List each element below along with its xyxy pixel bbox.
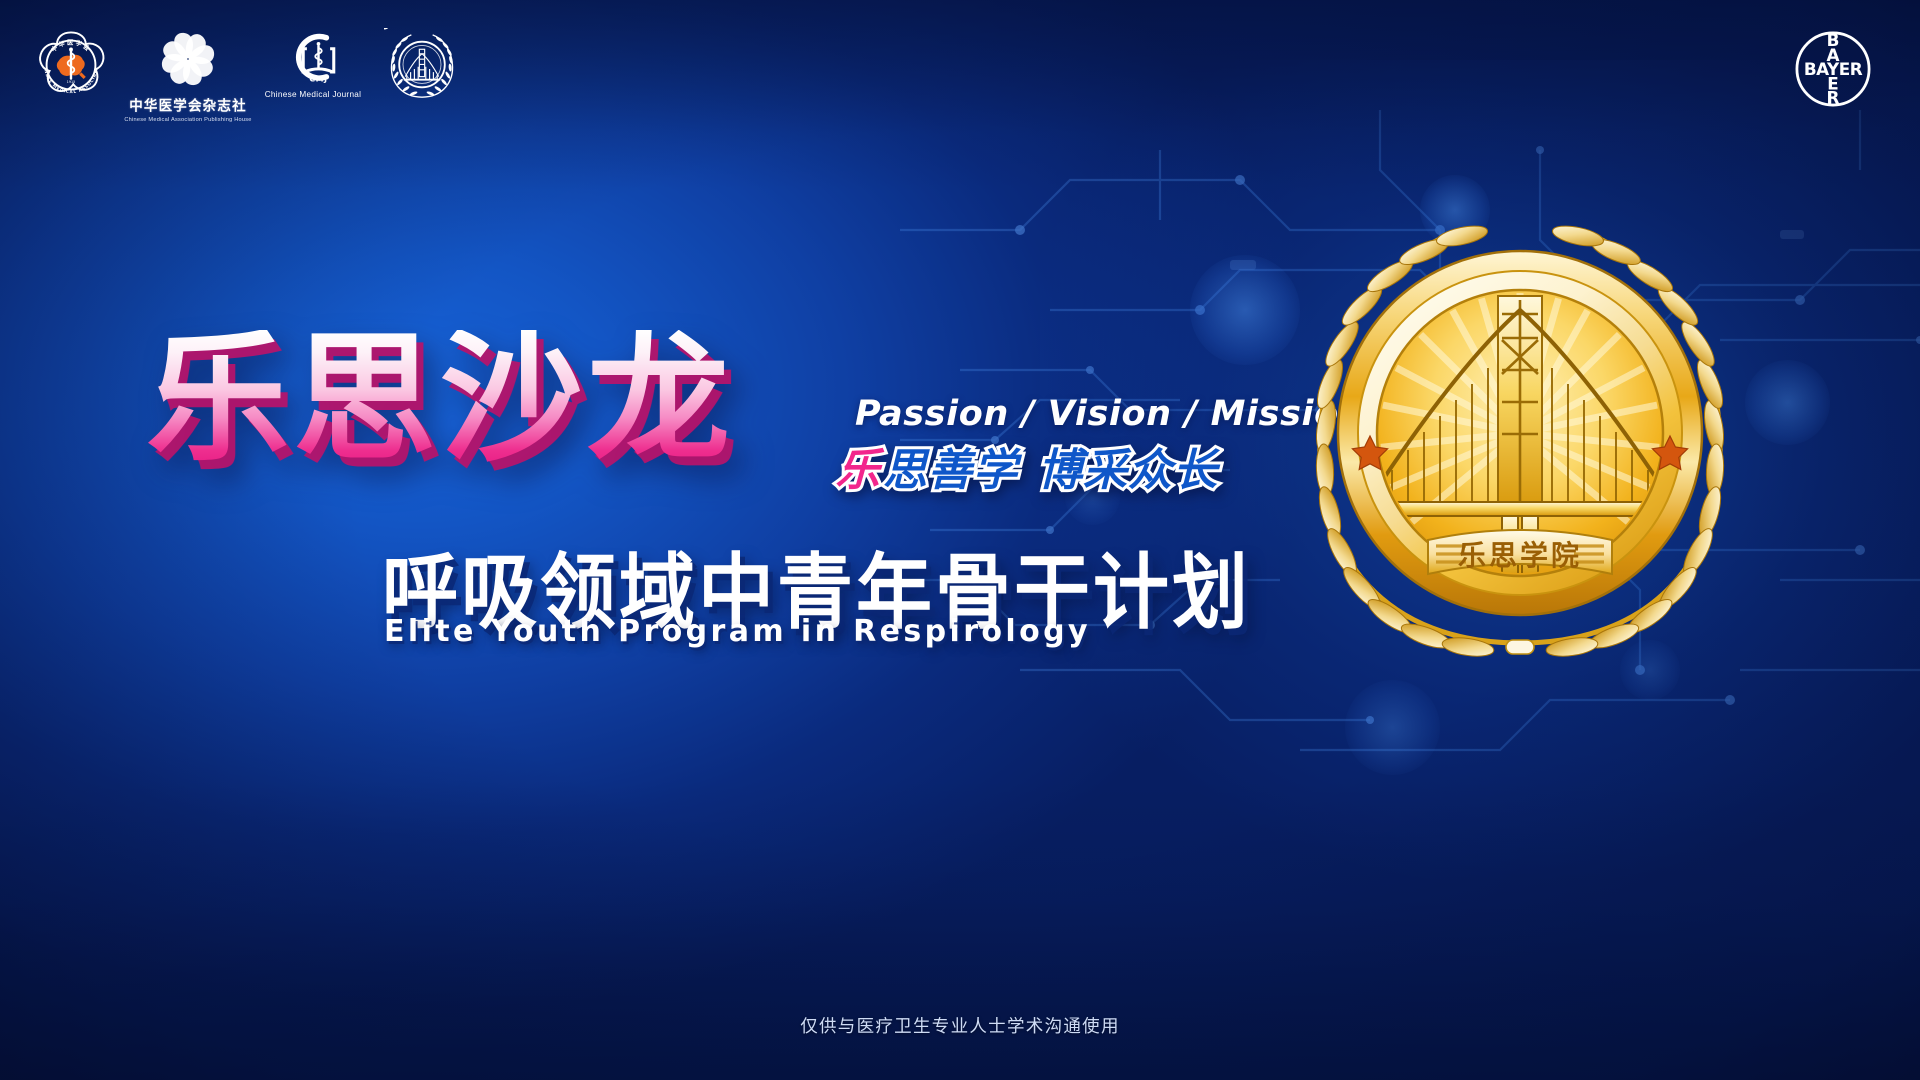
slogan-part-3: 博采众长	[1038, 434, 1218, 498]
slogan-part-1: 乐	[835, 434, 882, 498]
gold-bridge-medal-icon: 乐思学院	[1270, 188, 1770, 688]
svg-text:R: R	[1827, 87, 1840, 107]
bayer-cross-icon: BAYER B A E R	[1792, 28, 1874, 110]
svg-text:A: A	[1827, 45, 1840, 65]
cma-seal-icon: 中华医学会 CHINESE MEDICAL ASSOCIATION 1915	[34, 28, 108, 102]
poster-stage: 中华医学会 CHINESE MEDICAL ASSOCIATION 1915	[0, 0, 1920, 1080]
publisher-name-en: Chinese Medical Association Publishing H…	[124, 117, 251, 123]
partner-logo-bar: 中华医学会 CHINESE MEDICAL ASSOCIATION 1915	[34, 28, 469, 123]
footer-disclaimer: 仅供与医疗卫生专业人士学术沟通使用	[0, 1013, 1920, 1038]
slogan-cn: 乐 思善学 博采众长	[836, 434, 1218, 498]
cmj-book-caduceus-icon: CMJ	[282, 28, 344, 86]
logo-chinese-medical-association: 中华医学会 CHINESE MEDICAL ASSOCIATION 1915	[34, 28, 108, 102]
medal-banner-text: 乐思学院	[1458, 539, 1582, 572]
medal-banner: 乐思学院	[1428, 530, 1612, 574]
logo-lesi-academy	[374, 28, 469, 104]
publisher-name-cn: 中华医学会杂志社	[129, 94, 247, 115]
logo-chinese-medical-journal: CMJ Chinese Medical Journal	[258, 28, 368, 99]
svg-text:1915: 1915	[67, 80, 76, 84]
slogan-part-2: 思善学	[883, 434, 1018, 498]
svg-text:CMJ: CMJ	[309, 75, 327, 84]
main-title: 乐思沙龙	[146, 330, 734, 470]
logo-cma-publishing-house: 中华医学会杂志社 Chinese Medical Association Pub…	[128, 28, 248, 123]
journal-name-en: Chinese Medical Journal	[265, 90, 362, 99]
subtitle-en: Elite Youth Program in Respirology	[384, 614, 1091, 649]
bridge-wreath-icon	[384, 28, 460, 104]
rosette-icon	[157, 28, 219, 90]
